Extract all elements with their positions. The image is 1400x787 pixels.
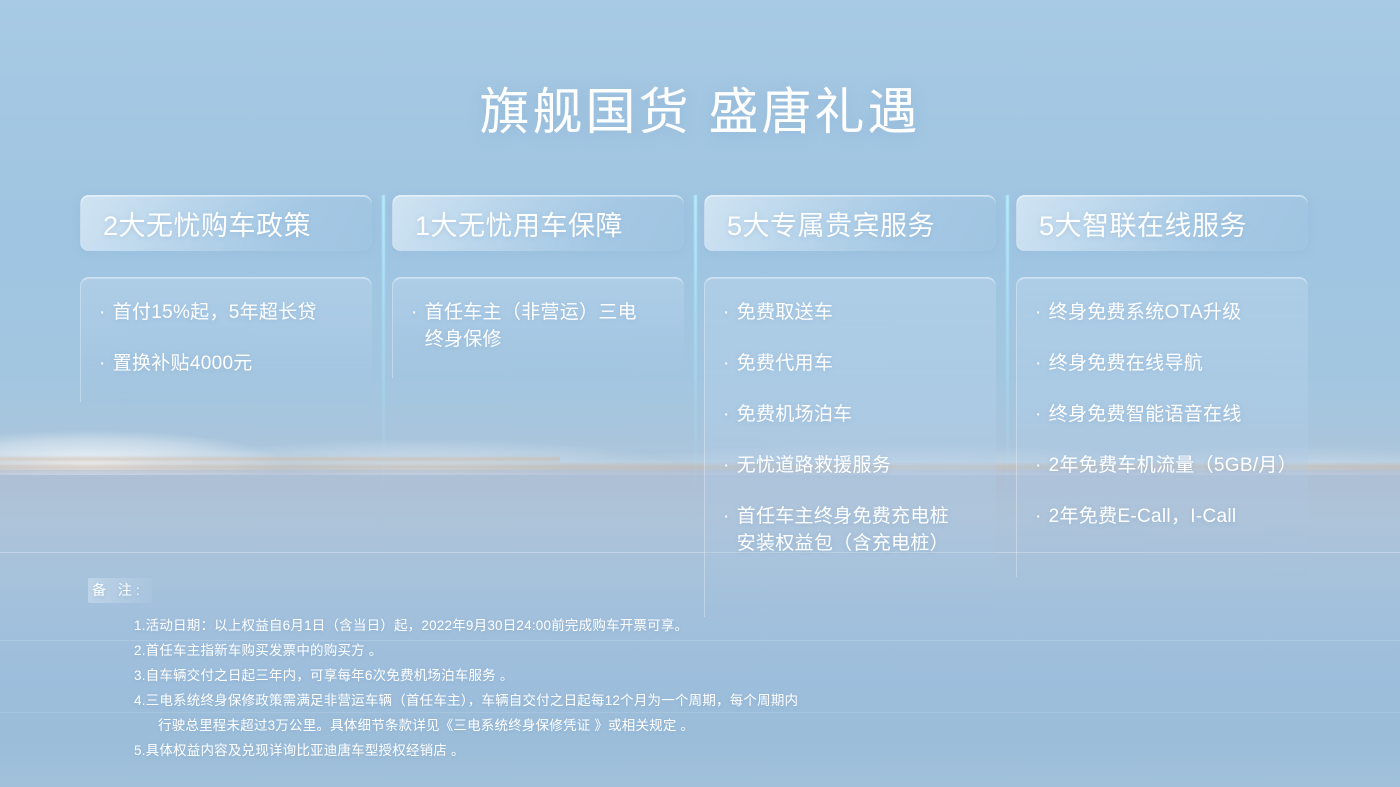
list-item-text: 2年免费E-Call，I-Call [1049, 504, 1237, 531]
list-item: · 首任车主终身免费充电桩 安装权益包（含充电桩） [723, 504, 980, 558]
bullet-icon: · [1035, 504, 1042, 531]
column-header-3: 5大专属贵宾服务 [704, 195, 996, 251]
list-item: · 免费代用车 [723, 351, 980, 378]
footnote-line: 3.自车辆交付之日起三年内，可享每年6次免费机场泊车服务 。 [134, 664, 988, 689]
divider-light-beam [1006, 195, 1009, 525]
bullet-icon: · [723, 453, 730, 480]
divider-light-beam [382, 195, 385, 525]
bullet-icon: · [1035, 351, 1042, 378]
bullet-icon: · [411, 300, 418, 354]
divider-light-beam [694, 195, 697, 525]
list-item-text: 终身免费智能语音在线 [1049, 402, 1242, 429]
list-item-text: 免费取送车 [737, 300, 834, 327]
list-item: · 2年免费E-Call，I-Call [1035, 504, 1292, 531]
column-body-2: · 首任车主（非营运）三电 终身保修 [392, 277, 684, 378]
footnotes-list: 1.活动日期：以上权益自6月1日（含当日）起，2022年9月30日24:00前完… [88, 614, 988, 764]
bullet-icon: · [99, 351, 106, 378]
column-header-2: 1大无忧用车保障 [392, 195, 684, 251]
bullet-icon: · [723, 402, 730, 429]
benefit-columns: 2大无忧购车政策 · 首付15%起，5年超长贷 · 置换补贴4000元 1大无忧… [80, 195, 1320, 251]
footnotes: 备 注: 1.活动日期：以上权益自6月1日（含当日）起，2022年9月30日24… [88, 578, 988, 764]
list-item-text: 置换补贴4000元 [113, 351, 253, 378]
column-header-1: 2大无忧购车政策 [80, 195, 372, 251]
list-item: · 无忧道路救援服务 [723, 453, 980, 480]
footnote-line: 1.活动日期：以上权益自6月1日（含当日）起，2022年9月30日24:00前完… [134, 614, 988, 639]
list-item-text: 无忧道路救援服务 [737, 453, 891, 480]
bullet-icon: · [99, 300, 106, 327]
bullet-icon: · [1035, 300, 1042, 327]
list-item: · 置换补贴4000元 [99, 351, 356, 378]
list-item-text: 首任车主终身免费充电桩 安装权益包（含充电桩） [737, 504, 949, 558]
benefit-column-4: 5大智联在线服务 · 终身免费系统OTA升级 · 终身免费在线导航 · 终身免费… [1016, 195, 1308, 251]
column-body-4: · 终身免费系统OTA升级 · 终身免费在线导航 · 终身免费智能语音在线 · … [1016, 277, 1308, 577]
list-item: · 2年免费车机流量（5GB/月） [1035, 453, 1292, 480]
benefit-column-3: 5大专属贵宾服务 · 免费取送车 · 免费代用车 · 免费机场泊车 · 无忧道路… [704, 195, 996, 251]
footnote-line: 4.三电系统终身保修政策需满足非营运车辆（首任车主），车辆自交付之日起每12个月… [134, 689, 988, 714]
footnotes-title: 备 注: [88, 578, 152, 603]
list-item: · 免费取送车 [723, 300, 980, 327]
page-title: 旗舰国货 盛唐礼遇 [0, 72, 1400, 144]
list-item-text: 免费代用车 [737, 351, 834, 378]
footnote-line: 2.首任车主指新车购买发票中的购买方 。 [134, 639, 988, 664]
bullet-icon: · [723, 300, 730, 327]
bullet-icon: · [1035, 402, 1042, 429]
list-item-text: 首任车主（非营运）三电 终身保修 [425, 300, 637, 354]
list-item-text: 终身免费系统OTA升级 [1049, 300, 1242, 327]
column-body-3: · 免费取送车 · 免费代用车 · 免费机场泊车 · 无忧道路救援服务 · [704, 277, 996, 617]
bullet-icon: · [723, 351, 730, 378]
column-body-1: · 首付15%起，5年超长贷 · 置换补贴4000元 [80, 277, 372, 402]
list-item-text: 终身免费在线导航 [1049, 351, 1203, 378]
list-item: · 终身免费智能语音在线 [1035, 402, 1292, 429]
bullet-icon: · [1035, 453, 1042, 480]
list-item: · 首任车主（非营运）三电 终身保修 [411, 300, 668, 354]
list-item-text: 首付15%起，5年超长贷 [113, 300, 317, 327]
list-item: · 终身免费系统OTA升级 [1035, 300, 1292, 327]
benefit-column-2: 1大无忧用车保障 · 首任车主（非营运）三电 终身保修 [392, 195, 684, 251]
column-header-4: 5大智联在线服务 [1016, 195, 1308, 251]
list-item-text: 2年免费车机流量（5GB/月） [1049, 453, 1292, 480]
bullet-icon: · [723, 504, 730, 558]
list-item: · 首付15%起，5年超长贷 [99, 300, 356, 327]
footnote-line: 行驶总里程未超过3万公里。具体细节条款详见《三电系统终身保修凭证 》或相关规定 … [134, 714, 988, 739]
footnote-line: 5.具体权益内容及兑现详询比亚迪唐车型授权经销店 。 [134, 739, 988, 764]
list-item: · 终身免费在线导航 [1035, 351, 1292, 378]
shoreline-left [0, 455, 560, 464]
promo-slide: 旗舰国货 盛唐礼遇 2大无忧购车政策 · 首付15%起，5年超长贷 · 置换补贴… [0, 0, 1400, 787]
list-item-text: 免费机场泊车 [737, 402, 853, 429]
benefit-column-1: 2大无忧购车政策 · 首付15%起，5年超长贷 · 置换补贴4000元 [80, 195, 372, 251]
list-item: · 免费机场泊车 [723, 402, 980, 429]
